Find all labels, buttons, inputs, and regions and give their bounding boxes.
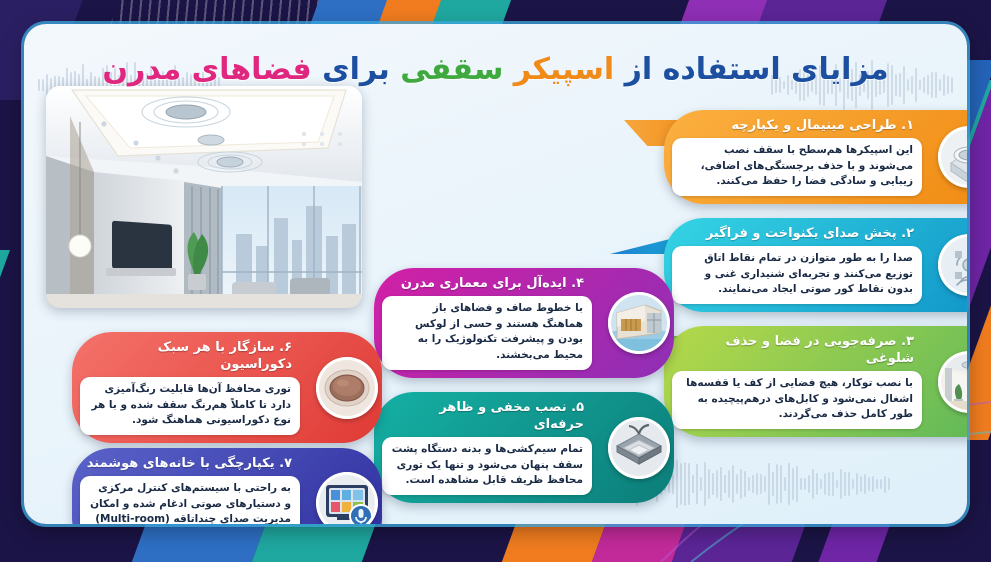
benefit-5-body: تمام سیم‌کشی‌ها و بدنه دستگاه پشت سقف پن…	[382, 437, 592, 495]
benefit-2-body: صدا را به طور متوازن در تمام نقاط اتاق ت…	[672, 246, 922, 304]
title-seg-2: اسپیکر	[514, 52, 614, 87]
modern-architecture-house-icon	[608, 292, 670, 354]
benefit-7-heading: ۷. یکپارچگی با خانه‌های هوشمند	[80, 455, 300, 476]
benefit-card-6[interactable]: ۶. سازگار با هر سبک دکوراسیون توری محافظ…	[72, 332, 382, 443]
benefit-4-body: با خطوط صاف و فضاهای باز هماهنگ هستند و …	[382, 296, 592, 370]
title-seg-5: فضاهای مدرن	[102, 52, 311, 87]
hidden-wiring-grille-icon	[608, 417, 670, 479]
title-seg-1: مزایای استفاده از	[625, 52, 889, 87]
paintable-speaker-grille-icon	[316, 357, 378, 419]
page-title: مزایای استفاده از اسپیکر سقفی برای فضاها…	[102, 50, 888, 91]
benefit-7-body: به راحتی با سیستم‌های کنترل مرکزی و دستی…	[80, 476, 300, 524]
benefit-4-heading: ۴. ایده‌آل برای معماری مدرن	[382, 275, 592, 296]
benefit-5-heading: ۵. نصب مخفی و ظاهر حرفه‌ای	[382, 399, 592, 437]
benefit-6-body: توری محافظ آن‌ها قابلیت رنگ‌آمیزی دارد ت…	[80, 377, 300, 435]
benefit-3-heading: ۳. صرفه‌جویی در فضا و حذف شلوغی	[672, 333, 922, 371]
title-block: مزایای استفاده از اسپیکر سقفی برای فضاها…	[24, 50, 967, 91]
room-illustration	[46, 86, 362, 308]
benefit-2-heading: ۲. پخش صدای یکنواخت و فراگیر	[672, 225, 922, 246]
hero-room-image	[46, 86, 362, 308]
smart-home-control-panel-icon	[316, 472, 378, 524]
bg-band-left-teal	[0, 250, 10, 450]
flush-mount-ceiling-speaker-icon	[938, 126, 967, 188]
benefit-card-1[interactable]: ۱. طراحی مینیمال و یکپارچه این اسپیکرها …	[664, 110, 967, 204]
benefit-6-heading: ۶. سازگار با هر سبک دکوراسیون	[80, 339, 300, 377]
benefit-card-3[interactable]: ۳. صرفه‌جویی در فضا و حذف شلوغی با نصب ت…	[664, 326, 967, 437]
clean-room-corner-icon	[938, 351, 967, 413]
benefit-card-7[interactable]: ۷. یکپارچگی با خانه‌های هوشمند به راحتی …	[72, 448, 382, 524]
title-seg-3: سقفی	[400, 52, 503, 87]
benefit-card-2[interactable]: ۲. پخش صدای یکنواخت و فراگیر صدا را به ط…	[664, 218, 967, 312]
benefit-1-body: این اسپیکرها هم‌سطح با سقف نصب می‌شوند و…	[672, 138, 922, 196]
benefit-card-4[interactable]: ۴. ایده‌آل برای معماری مدرن با خطوط صاف …	[374, 268, 674, 378]
benefit-card-5[interactable]: ۵. نصب مخفی و ظاهر حرفه‌ای تمام سیم‌کشی‌…	[374, 392, 674, 503]
title-seg-4: برای	[322, 52, 390, 87]
infographic-canvas: مزایای استفاده از اسپیکر سقفی برای فضاها…	[0, 0, 991, 562]
benefit-1-heading: ۱. طراحی مینیمال و یکپارچه	[672, 117, 922, 138]
benefit-3-body: با نصب توکار، هیچ فضایی از کف یا قفسه‌ها…	[672, 371, 922, 429]
omnidirectional-sound-waves-icon	[938, 234, 967, 296]
content-panel: مزایای استفاده از اسپیکر سقفی برای فضاها…	[24, 24, 967, 524]
